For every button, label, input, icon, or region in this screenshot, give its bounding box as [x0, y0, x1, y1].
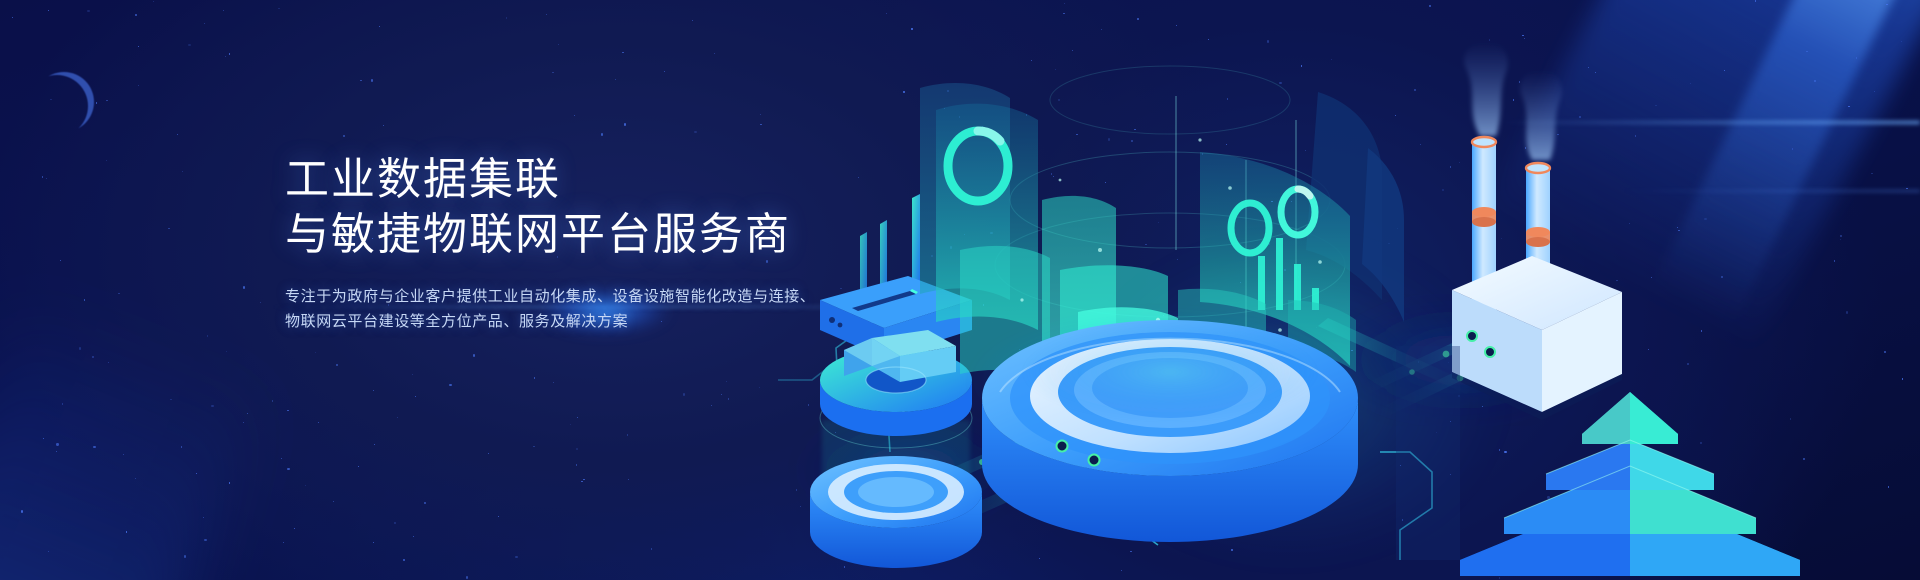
star-particle	[694, 131, 696, 133]
star-particle	[48, 10, 49, 11]
star-particle	[413, 536, 414, 537]
star-particle	[336, 364, 338, 366]
star-particle	[683, 393, 685, 395]
star-particle	[373, 390, 374, 391]
star-particle	[412, 374, 413, 375]
factory-cube	[1452, 42, 1622, 420]
star-particle	[576, 448, 578, 450]
star-particle	[46, 178, 47, 179]
star-particle	[383, 125, 384, 126]
star-particle	[424, 502, 426, 504]
star-particle	[177, 134, 178, 135]
star-particle	[138, 46, 139, 47]
star-particle	[449, 384, 451, 386]
star-particle	[226, 351, 227, 352]
star-particle	[552, 72, 553, 73]
star-particle	[711, 405, 712, 406]
star-particle	[281, 458, 282, 459]
star-particle	[498, 516, 499, 517]
star-particle	[294, 528, 295, 529]
star-particle	[403, 559, 405, 561]
star-particle	[721, 394, 722, 395]
star-particle	[106, 100, 107, 101]
star-particle	[358, 466, 359, 467]
star-particle	[278, 8, 279, 9]
star-particle	[379, 26, 380, 27]
hero-banner: 工业数据集联 与敏捷物联网平台服务商 专注于为政府与企业客户提供工业自动化集成、…	[0, 0, 1920, 580]
star-particle	[96, 102, 97, 103]
pyramid-stack	[1460, 392, 1800, 576]
platform-disc	[982, 320, 1358, 542]
star-particle	[415, 396, 416, 397]
star-particle	[624, 123, 626, 125]
star-particle	[373, 542, 374, 543]
star-particle	[260, 302, 261, 303]
star-particle	[118, 293, 119, 294]
star-particle	[577, 417, 578, 418]
star-particle	[506, 17, 507, 18]
star-particle	[558, 44, 559, 45]
star-particle	[397, 417, 398, 418]
star-particle	[374, 444, 375, 445]
star-particle	[601, 133, 603, 135]
star-particle	[138, 85, 139, 86]
star-particle	[728, 398, 729, 399]
star-particle	[515, 556, 517, 558]
star-particle	[574, 115, 575, 116]
star-particle	[473, 354, 475, 356]
star-particle	[343, 135, 344, 136]
star-particle	[570, 424, 571, 425]
star-particle	[223, 10, 224, 11]
star-particle	[488, 453, 489, 454]
star-particle	[243, 286, 245, 288]
small-disc-pedestal	[810, 456, 982, 568]
crescent-moon-icon	[34, 72, 94, 132]
star-particle	[225, 56, 226, 57]
holo-panel-far-right	[1362, 148, 1404, 322]
star-particle	[651, 548, 652, 549]
star-particle	[305, 485, 306, 486]
star-particle	[229, 53, 230, 54]
star-particle	[272, 400, 273, 401]
star-particle	[283, 542, 284, 543]
star-particle	[622, 52, 623, 53]
star-particle	[581, 481, 582, 482]
star-particle	[664, 71, 665, 72]
star-particle	[168, 228, 169, 229]
star-particle	[287, 468, 289, 470]
star-particle	[714, 53, 715, 54]
star-particle	[628, 479, 629, 480]
star-particle	[135, 14, 137, 16]
star-particle	[12, 17, 13, 18]
star-particle	[333, 501, 334, 502]
star-particle	[360, 80, 361, 81]
star-particle	[153, 1, 154, 2]
star-particle	[207, 335, 208, 336]
star-particle	[726, 381, 727, 382]
star-particle	[182, 171, 183, 172]
star-particle	[615, 79, 616, 80]
star-particle	[204, 23, 205, 24]
star-particle	[287, 410, 288, 411]
star-particle	[106, 160, 107, 161]
industrial-iot-illustration	[760, 0, 1920, 580]
star-particle	[627, 434, 628, 435]
star-particle	[84, 299, 85, 300]
star-particle	[315, 352, 316, 353]
star-particle	[576, 464, 577, 465]
star-particle	[394, 522, 395, 523]
light-streak-bottom-left	[0, 287, 269, 580]
star-particle	[87, 10, 89, 12]
star-particle	[546, 14, 547, 15]
star-particle	[371, 79, 373, 81]
star-particle	[553, 382, 554, 383]
star-particle	[60, 260, 61, 261]
star-particle	[466, 576, 468, 578]
star-particle	[534, 377, 535, 378]
star-particle	[692, 20, 693, 21]
star-particle	[188, 44, 190, 46]
star-particle	[583, 479, 584, 480]
star-particle	[533, 446, 534, 447]
star-particle	[42, 176, 43, 177]
star-particle	[318, 422, 319, 423]
